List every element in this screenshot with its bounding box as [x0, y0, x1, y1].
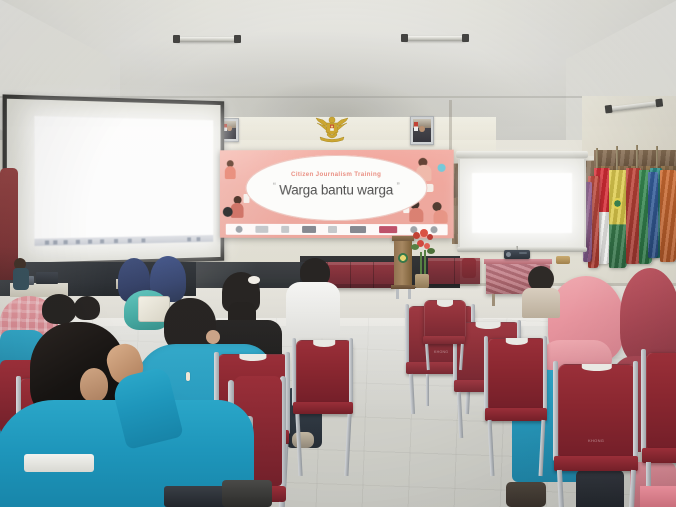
seminar-hall-photo: Citizen Journalism Training “ Warga bant… [0, 0, 676, 507]
projection-screen-right[interactable] [458, 157, 586, 249]
front-left-ear [80, 368, 108, 402]
front-center-lapel-pin [186, 372, 190, 381]
projected-slide-left [34, 116, 213, 246]
podium-emblem [398, 253, 408, 263]
sponsor-logo-wordmark-2 [281, 226, 289, 233]
fluorescent-tube-right [404, 36, 466, 41]
flagpole-2 [616, 146, 618, 170]
attendee-head-rear-1 [42, 294, 76, 324]
banner-figure-body-5 [409, 208, 423, 222]
sponsor-logo-wordmark-5 [350, 226, 366, 233]
rear-laptop [36, 272, 58, 284]
white-shirt-torso [286, 282, 340, 338]
hair-clip [248, 276, 260, 284]
chair-brand-tag-right: KHONG [588, 438, 604, 443]
flagpole-1 [596, 148, 598, 170]
attendee-patterned-shirt [522, 288, 560, 318]
chair-brand-tag: KHONG [434, 350, 448, 354]
flower-vase [415, 274, 429, 288]
flag-orange [660, 170, 676, 262]
sponsor-logo-magenta-block [379, 226, 397, 233]
attendee-head-rear-2 [74, 296, 100, 320]
pink-fabric-bottom-right [640, 486, 676, 507]
podium-leg-left [396, 289, 399, 299]
table-item-box [556, 256, 570, 264]
garuda-pancasila-emblem [314, 113, 350, 143]
projected-slide-right [472, 173, 572, 233]
sponsor-logo-circle-red [430, 226, 437, 233]
sponsor-logo-wordmark-3 [302, 226, 316, 233]
sponsor-logo-wordmark-4 [328, 226, 337, 233]
video-projector [504, 250, 530, 259]
maroon-hijab [620, 268, 676, 364]
attendee-legs-dark-right [576, 470, 624, 507]
banner-quote-close: ” [397, 181, 400, 191]
podium-base [391, 285, 415, 289]
banner-headline: “ Warga bantu warga ” [220, 181, 454, 198]
banner-figure-body-6 [433, 210, 447, 223]
flag-blue [648, 172, 658, 258]
fluorescent-tube-left [176, 37, 238, 42]
bag-front-left [222, 480, 272, 507]
wooden-podium [394, 241, 412, 285]
sponsor-logo-circle-dark [236, 226, 243, 233]
framed-portrait-president [410, 116, 434, 145]
banner-headline-text: Warga bantu warga [279, 182, 393, 197]
standing-person-shoulder [13, 268, 29, 290]
flagpole-4 [656, 146, 658, 170]
banner-subtitle: Citizen Journalism Training [220, 171, 454, 178]
event-banner: Citizen Journalism Training “ Warga bant… [220, 150, 454, 239]
sponsor-logo-wordmark-1 [256, 226, 269, 233]
banner-quote-open: “ [273, 181, 276, 191]
projection-screen-left[interactable] [3, 94, 225, 267]
attendee-shoe-mid [292, 432, 314, 448]
front-center-ear [206, 330, 220, 344]
flag-yellow-emblem [609, 170, 627, 268]
table-leg-left [492, 294, 495, 306]
bag-under-chair-right [506, 482, 546, 507]
banner-icon-dot [223, 207, 233, 217]
podium-leg-right [408, 289, 411, 299]
front-left-shirt-collar [24, 454, 94, 472]
flagpole-3 [636, 145, 638, 170]
table-top-edge [484, 259, 552, 264]
stage-chair-small [462, 258, 476, 278]
